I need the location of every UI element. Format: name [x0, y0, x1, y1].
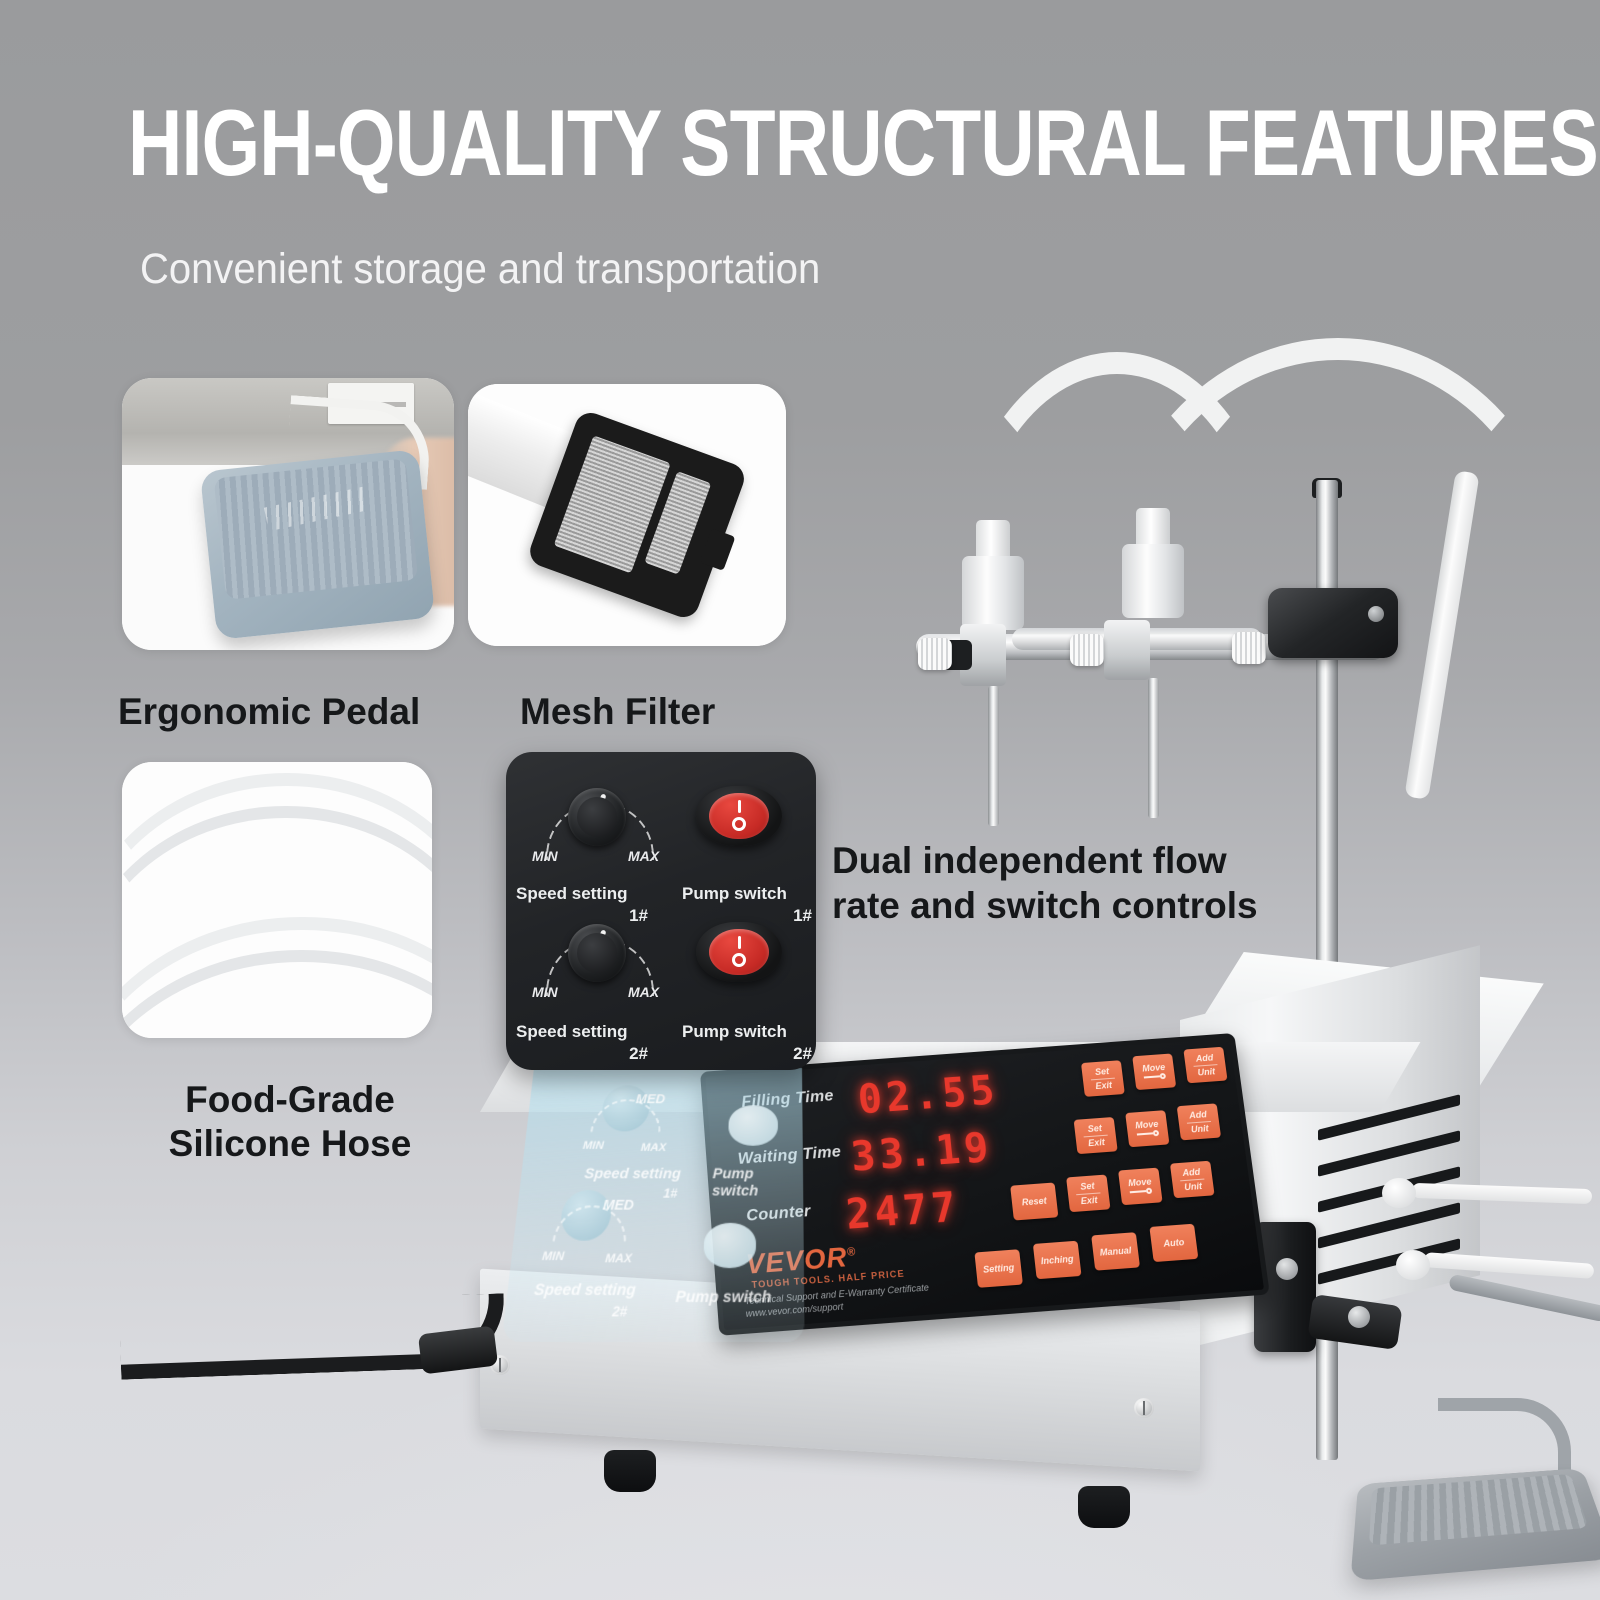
rubber-foot-left [604, 1450, 656, 1492]
key-auto[interactable]: Auto [1149, 1224, 1198, 1262]
page-subtitle: Convenient storage and transportation [140, 245, 820, 294]
pump-switch-index-2: 2# [682, 1044, 812, 1064]
thumbscrew-2[interactable] [1070, 634, 1104, 666]
key-move-1[interactable]: Move [1132, 1053, 1176, 1090]
reflection-min-1: MIN [582, 1140, 604, 1152]
pump-switch-2[interactable] [696, 922, 782, 982]
reflection-pump-label-1: Pump switch [712, 1165, 803, 1199]
nozzle-fitting-1 [962, 556, 1024, 630]
speed-knob-1[interactable] [568, 788, 626, 846]
move-arrow-icon [1136, 1129, 1159, 1139]
reflection-med-label-1: MED [635, 1091, 665, 1106]
page-title: HIGH-QUALITY STRUCTURAL FEATURES [128, 96, 1248, 190]
move-arrow-icon [1129, 1187, 1152, 1197]
power-off-icon [732, 817, 746, 831]
reflection-speed-label-2: Speed setting [533, 1280, 636, 1299]
key-setting[interactable]: Setting [974, 1249, 1023, 1288]
counter-value: 2477 [844, 1184, 962, 1240]
pedal-cable [1448, 1274, 1600, 1323]
key-move-3[interactable]: Move [1118, 1168, 1163, 1206]
key-set-exit-2[interactable]: Set Exit [1074, 1117, 1118, 1154]
reflection-min-2: MIN [541, 1250, 564, 1264]
key-inching[interactable]: Inching [1033, 1241, 1082, 1280]
pump-switch-1[interactable] [696, 786, 782, 846]
key-set-exit-1[interactable]: Set Exit [1081, 1060, 1125, 1097]
filling-needle-1 [988, 686, 999, 826]
foot-pedal-tread [1369, 1474, 1589, 1546]
key-add-unit-2[interactable]: Add Unit [1177, 1103, 1221, 1140]
key-add-unit-3[interactable]: Add Unit [1170, 1161, 1215, 1199]
filling-time-value: 02.55 [856, 1067, 1001, 1123]
speed-setting-index-2: 2# [498, 1044, 648, 1064]
thumbnail-silicone-hose [122, 762, 432, 1038]
pump-switch-rocker-1[interactable] [709, 793, 769, 839]
thumbscrew-1[interactable] [918, 638, 952, 670]
waiting-time-value: 33.19 [849, 1124, 995, 1181]
pedal-cable-loop [1438, 1398, 1571, 1471]
caption-silicone-hose: Food-Grade Silicone Hose [160, 1078, 420, 1165]
reflection-max-1: MAX [640, 1142, 666, 1154]
nozzle-fitting-2 [1122, 544, 1184, 618]
knob-max-label-2: MAX [628, 984, 659, 1000]
key-move-2[interactable]: Move [1125, 1110, 1169, 1147]
power-on-icon [738, 936, 741, 949]
pedal-photo-body [200, 449, 436, 640]
reflection-pump-label-2: Pump switch [675, 1287, 771, 1306]
caption-dual-controls: Dual independent flow rate and switch co… [832, 838, 1302, 928]
pump-switch-rocker-2[interactable] [709, 929, 769, 975]
rubber-foot-right [1078, 1486, 1130, 1528]
knob-min-label-1: MIN [532, 848, 558, 864]
move-arrow-icon [1143, 1072, 1166, 1082]
key-reset[interactable]: Reset [1010, 1182, 1058, 1220]
caption-ergonomic-pedal: Ergonomic Pedal [118, 690, 420, 734]
panel-screw-right [1134, 1398, 1154, 1418]
speed-knob-unit-2[interactable]: MIN MAX [530, 914, 662, 1010]
caption-mesh-filter: Mesh Filter [520, 690, 715, 734]
control-panel-reflection: MED MIN MAX Speed setting 1# Pump switch… [502, 1068, 805, 1342]
thumbscrew-3[interactable] [1232, 632, 1266, 664]
key-manual[interactable]: Manual [1091, 1232, 1140, 1270]
knob-max-label-1: MAX [628, 848, 659, 864]
speed-knob-2[interactable] [568, 924, 626, 982]
thumbnail-ergonomic-pedal [122, 378, 454, 650]
power-off-icon [732, 953, 746, 967]
hose-grommet-1 [1382, 1178, 1416, 1208]
speed-setting-label-2: Speed setting [516, 1022, 666, 1042]
reflection-speed-index-2: 2# [612, 1303, 628, 1320]
hex-screw-2 [1348, 1306, 1370, 1328]
control-panel-closeup[interactable]: MIN MAX Speed setting 1# MIN MAX Speed s… [506, 752, 816, 1070]
speed-knob-unit-1[interactable]: MIN MAX [530, 778, 662, 874]
reflection-med-label-2: MED [602, 1197, 634, 1213]
pump-switch-label-2: Pump switch [682, 1022, 812, 1042]
pump-switch-label-1: Pump switch [682, 884, 812, 904]
power-on-icon [738, 800, 741, 813]
filling-needle-2 [1148, 678, 1159, 818]
hex-screw-1 [1276, 1258, 1298, 1280]
reflection-switch-2 [703, 1223, 756, 1268]
reflection-switch-1 [728, 1105, 778, 1146]
product-feature-banner: HIGH-QUALITY STRUCTURAL FEATURES Conveni… [0, 0, 1600, 1600]
key-add-unit-1[interactable]: Add Unit [1183, 1047, 1227, 1084]
speed-setting-label-1: Speed setting [516, 884, 666, 904]
reflection-max-2: MAX [605, 1252, 633, 1266]
reflection-speed-index-1: 1# [663, 1186, 678, 1201]
post-clamp-block[interactable] [1268, 588, 1398, 658]
hose-grommet-2 [1396, 1250, 1430, 1280]
thumbnail-mesh-filter [468, 384, 786, 646]
nozzle-bracket-2 [1104, 620, 1150, 680]
key-set-exit-3[interactable]: Set Exit [1066, 1175, 1110, 1213]
pedal-photo-tread [214, 458, 418, 599]
reflection-speed-label-1: Speed setting [584, 1165, 682, 1182]
knob-min-label-2: MIN [532, 984, 558, 1000]
foot-pedal-main[interactable] [1350, 1468, 1600, 1581]
